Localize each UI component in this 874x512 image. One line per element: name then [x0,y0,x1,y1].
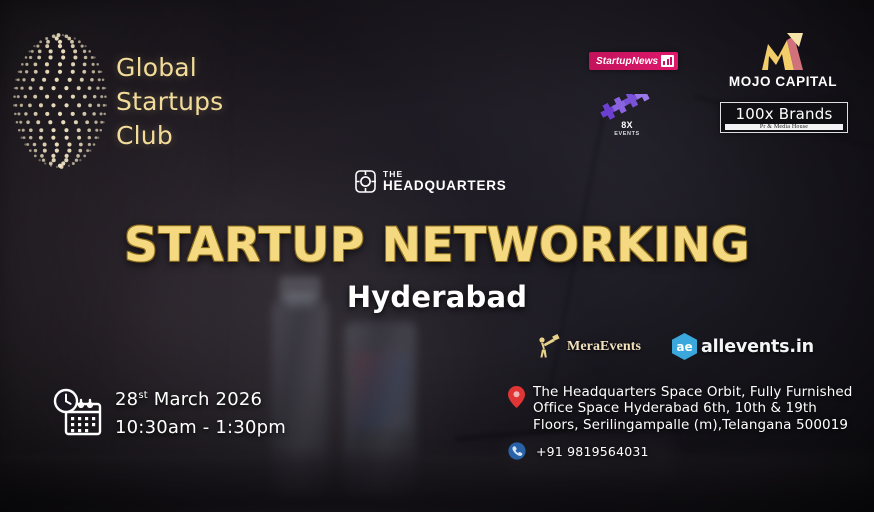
aperture-square-icon [355,170,376,193]
contact-phone-number: +91 9819564031 [536,444,649,459]
mojo-capital-label: MOJO CAPITAL [727,74,839,89]
meraevents-label: MeraEvents [567,339,641,355]
partner-logo-meraevents: MeraEvents [532,332,641,362]
brand-line-startups: Startups [116,89,223,114]
dotted-globe-icon [8,26,112,176]
map-pin-icon [508,386,525,408]
event-poster: Global Startups Club StartupNews [0,0,874,512]
brand-line-club: Club [116,123,223,148]
ae-hexagon-text: ae [672,333,697,360]
page-subtitle-city: Hyderabad [0,280,874,314]
phone-icon [508,442,526,460]
venue-address-line2: Office Space Hyderabad 6th, 10th & 19th [533,400,852,416]
bar-chart-icon [661,55,674,67]
eightx-label: 8X [596,121,658,131]
event-date: 28st March 2026 [115,389,286,410]
brand-lockup: Global Startups Club [8,26,223,176]
megaphone-person-icon [532,332,562,362]
sponsor-logo-100x-brands: 100x Brands Pr & Media House [720,102,848,133]
startupnews-label: StartupNews [596,56,658,67]
venue-block: The Headquarters Space Orbit, Fully Furn… [508,384,852,433]
brands100-label: 100x Brands [725,106,843,123]
m-arrow-icon [754,30,812,72]
partner-logo-allevents: ae allevents.in [672,333,814,360]
schedule-block: 28st March 2026 10:30am - 1:30pm [52,386,286,440]
allevents-label: allevents.in [701,337,814,357]
event-time: 10:30am - 1:30pm [115,417,286,438]
sponsor-logo-startupnews: StartupNews [589,52,678,70]
brand-line-global: Global [116,55,223,80]
ae-hexagon-icon: ae [672,333,697,360]
calendar-clock-icon [52,386,106,440]
sponsor-logo-the-headquarters: THE HEADQUARTERS [355,170,507,193]
headquarters-label-line2: HEADQUARTERS [383,179,507,193]
brands100-sublabel: Pr & Media House [725,124,843,130]
sponsor-logo-eightx: 8X EVENTS [596,94,658,146]
sponsor-logo-mojo-capital: MOJO CAPITAL [727,30,839,89]
venue-address-line3: Floors, Serilingampalle (m),Telangana 50… [533,417,852,433]
venue-address-line1: The Headquarters Space Orbit, Fully Furn… [533,384,852,400]
eightx-sublabel: EVENTS [596,131,658,137]
page-title: STARTUP NETWORKING [0,218,874,273]
contact-block[interactable]: +91 9819564031 [508,442,649,460]
